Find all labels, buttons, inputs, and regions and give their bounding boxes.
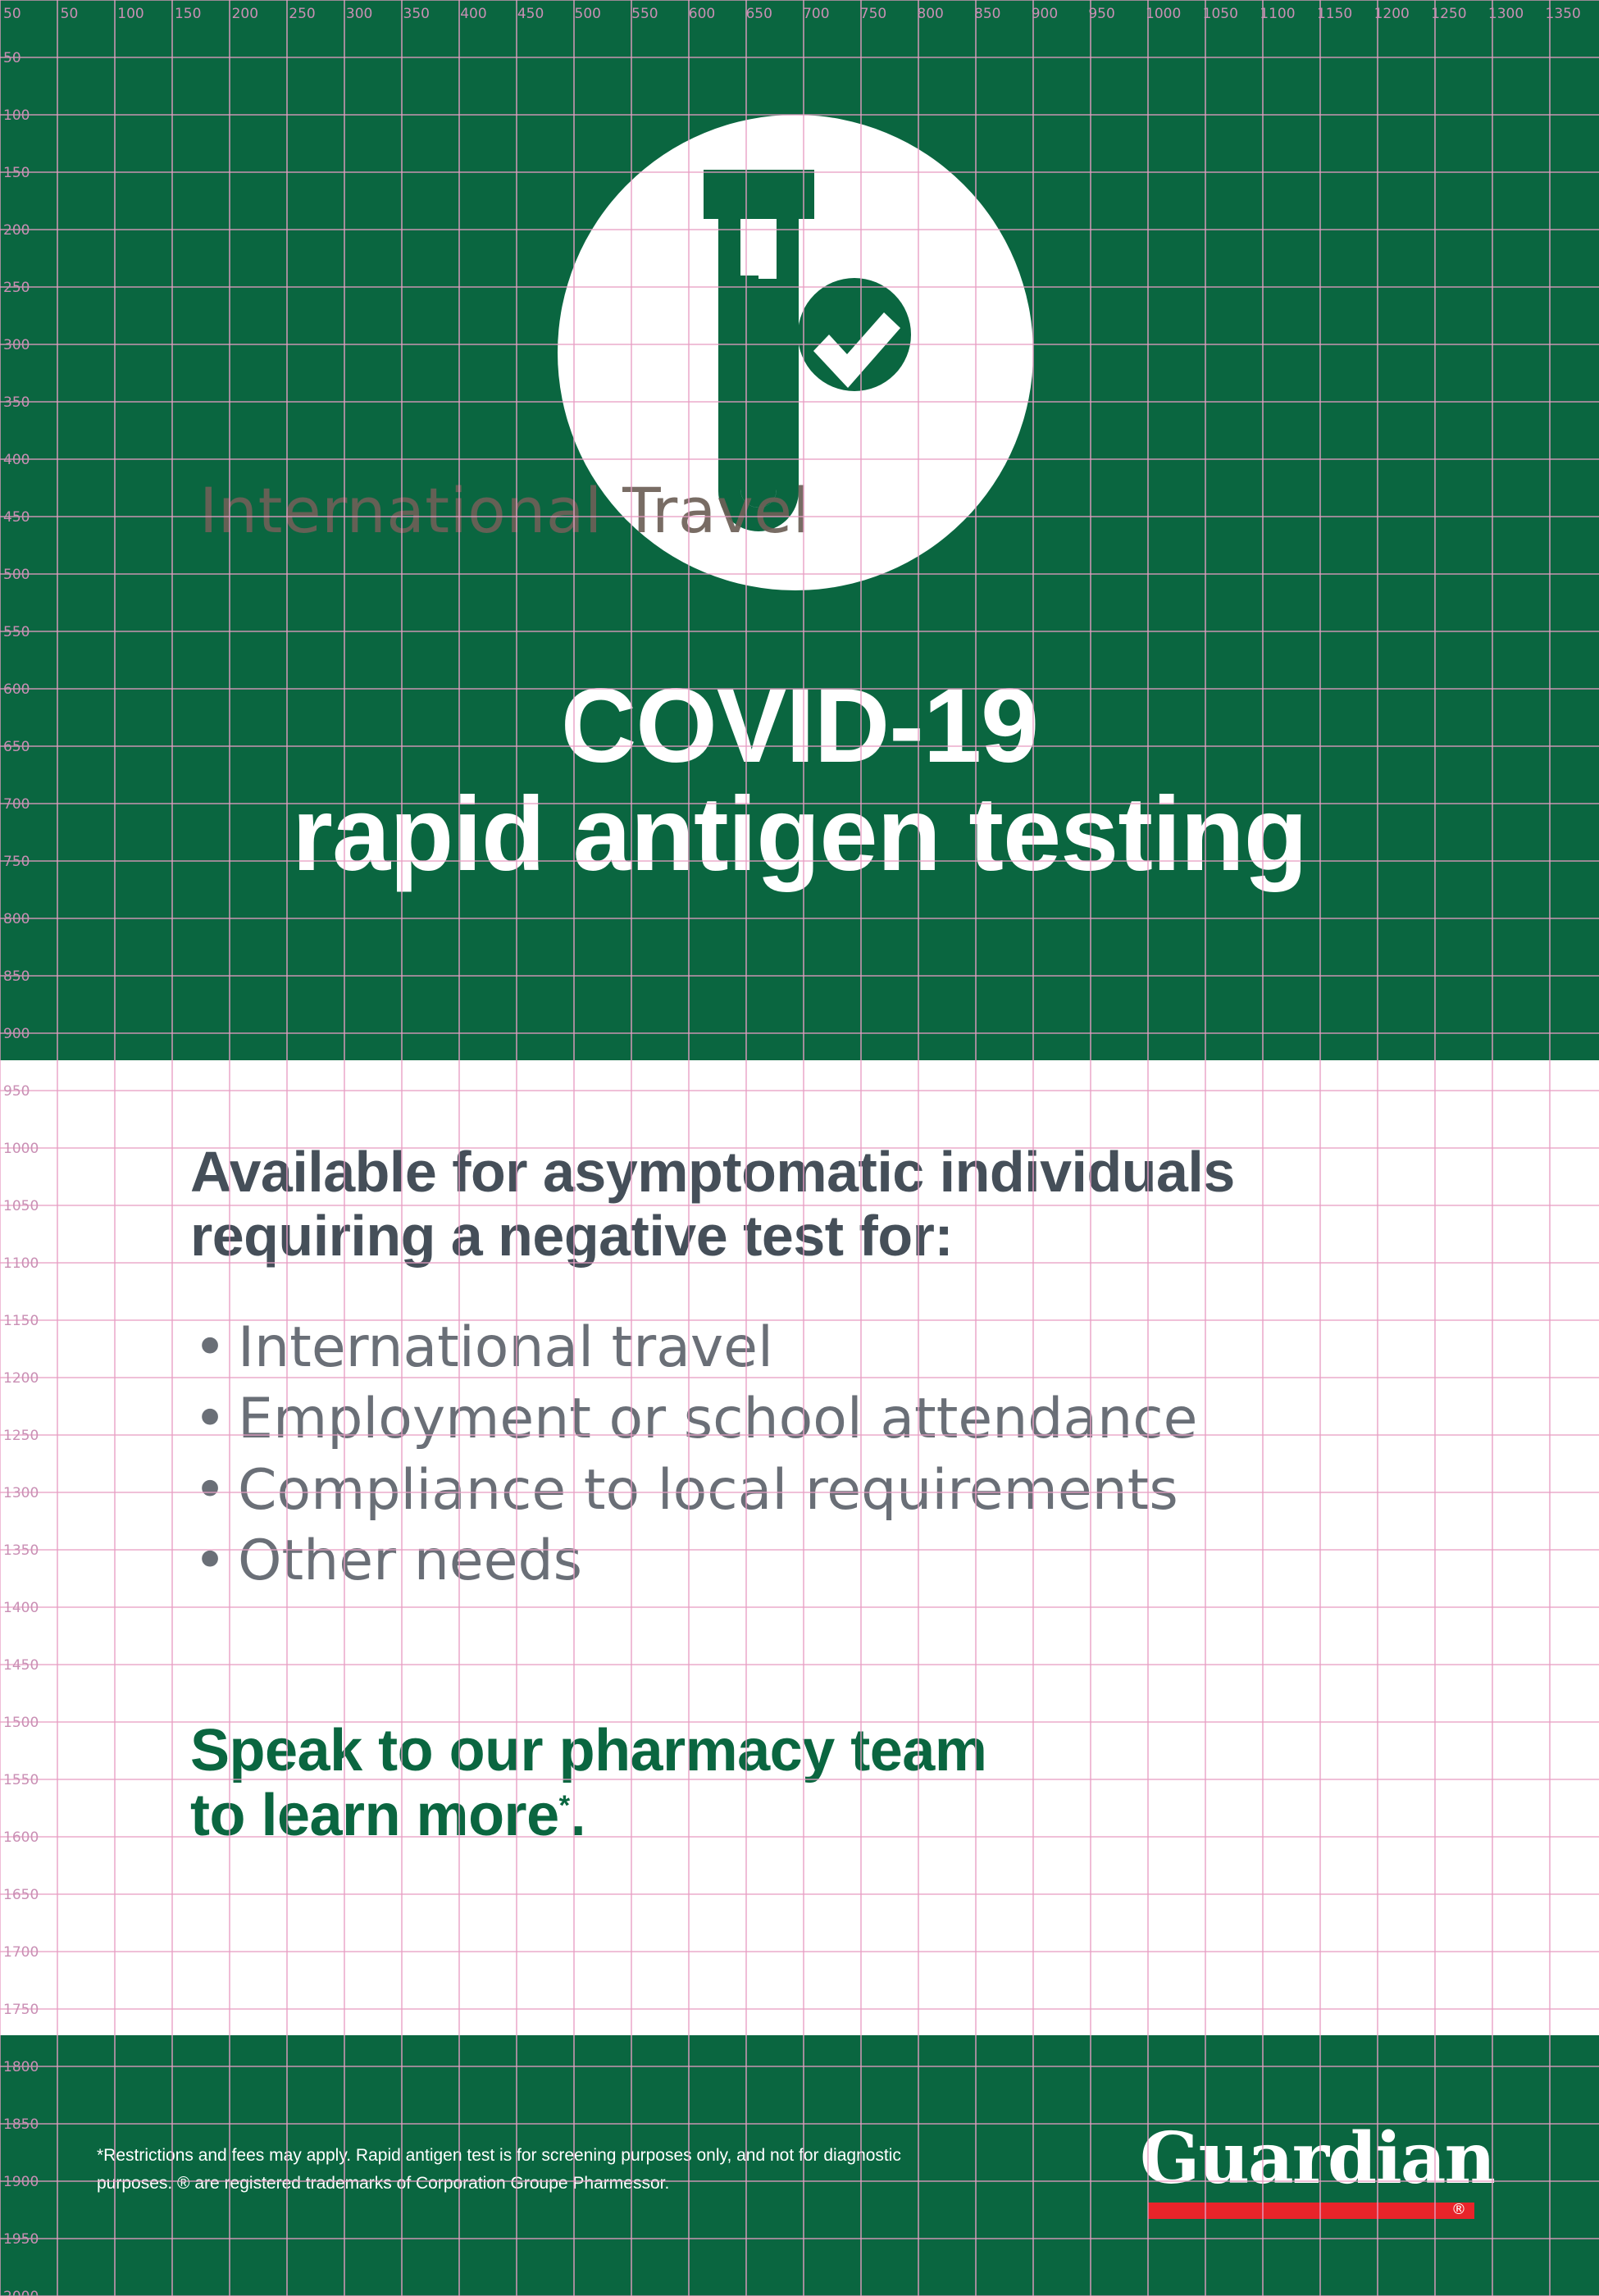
list-item-label: Employment or school attendance <box>238 1387 1197 1451</box>
lede-line2: requiring a negative test for: <box>190 1204 1469 1268</box>
watermark-international-travel: International Travel <box>199 474 810 547</box>
bullet-icon: • <box>194 1529 226 1594</box>
list-item: • Other needs <box>190 1529 1469 1594</box>
hero-title-line1: COVID-19 <box>0 672 1599 781</box>
guardian-wordmark: Guardian <box>1140 2124 1525 2194</box>
legal-disclaimer: *Restrictions and fees may apply. Rapid … <box>97 2142 925 2198</box>
lede-line1: Available for asymptomatic individuals <box>190 1140 1469 1204</box>
cta-line2: to learn more*. <box>190 1783 1469 1848</box>
cta-period: . <box>570 1783 586 1848</box>
list-item: • International travel <box>190 1316 1469 1381</box>
lede-heading: Available for asymptomatic individuals r… <box>190 1140 1469 1269</box>
list-item: • Compliance to local requirements <box>190 1459 1469 1524</box>
guardian-logo: Guardian ® <box>1140 2124 1525 2221</box>
bullet-icon: • <box>194 1316 226 1381</box>
bullet-icon: • <box>194 1387 226 1452</box>
poster-canvas: International Travel COVID-19 rapid anti… <box>0 0 1599 2296</box>
eligibility-list: • International travel • Employment or s… <box>190 1316 1469 1595</box>
main-content: Available for asymptomatic individuals r… <box>190 1140 1469 1849</box>
list-item-label: International travel <box>238 1315 773 1380</box>
registered-trademark-icon: ® <box>1451 2202 1466 2218</box>
call-to-action: Speak to our pharmacy team to learn more… <box>190 1719 1469 1848</box>
hero-title: COVID-19 rapid antigen testing <box>0 672 1599 889</box>
guardian-red-bar <box>1148 2203 1474 2219</box>
hero-title-line2: rapid antigen testing <box>0 781 1599 889</box>
guardian-underline-row: ® <box>1140 2203 1525 2221</box>
bullet-icon: • <box>194 1459 226 1524</box>
cta-line1: Speak to our pharmacy team <box>190 1719 1469 1783</box>
list-item-label: Compliance to local requirements <box>238 1458 1178 1523</box>
cta-asterisk: * <box>559 1790 570 1821</box>
cta-line2-text: to learn more <box>190 1783 559 1848</box>
list-item: • Employment or school attendance <box>190 1387 1469 1452</box>
list-item-label: Other needs <box>238 1528 582 1593</box>
